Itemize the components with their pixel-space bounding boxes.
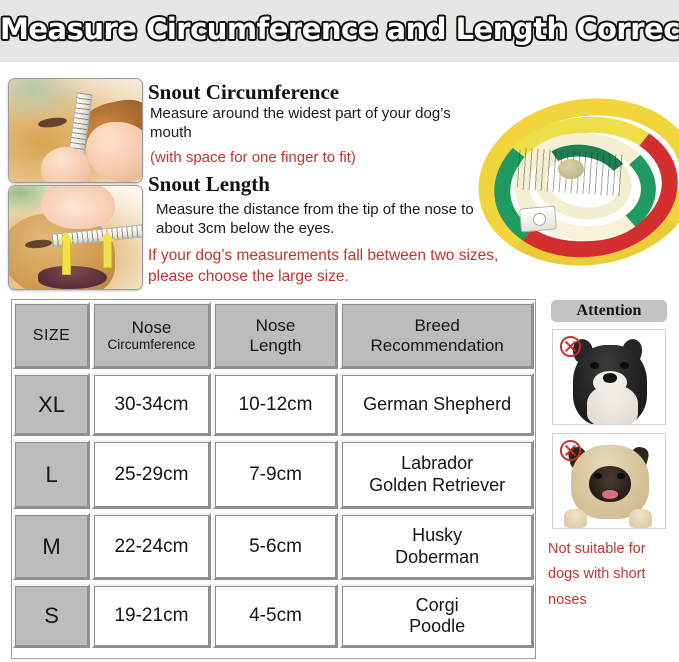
cell-breed-line2: Poodle	[409, 616, 465, 637]
cell-breed: Labrador Golden Retriever	[340, 440, 534, 509]
attention-title: Attention	[551, 300, 667, 322]
cell-size-value: M	[42, 534, 60, 560]
up-arrow-icon	[103, 238, 112, 269]
table-header-breed-recommendation: Breed Recommendation	[340, 302, 534, 369]
cell-value: 19-21cm	[114, 605, 188, 627]
cell-size: M	[13, 513, 90, 580]
photo-pug	[552, 433, 666, 529]
tape-measure-illustration	[472, 95, 672, 250]
note-finger-space: (with space for one finger to fit)	[150, 148, 490, 167]
up-arrow-icon	[62, 238, 71, 275]
dog-paw-right	[629, 509, 651, 528]
table-row: M 22-24cm 5-6cm Husky Doberman	[12, 511, 535, 582]
photo-french-bulldog	[552, 329, 666, 425]
table-header-line2: Circumference	[108, 337, 196, 352]
cell-nose-circumference: 30-34cm	[92, 373, 211, 436]
heading-snout-circumference: Snout Circumference	[148, 80, 339, 105]
photo-snout-circumference	[8, 78, 143, 183]
tape-hub	[558, 159, 584, 179]
table-header-line1: Nose	[132, 318, 172, 337]
cell-value: 30-34cm	[114, 394, 188, 416]
text-snout-circumference: Measure around the widest part of your d…	[150, 104, 480, 142]
dog-eye-right	[617, 473, 625, 479]
dog-eye-left	[590, 362, 599, 369]
cell-breed: Husky Doberman	[340, 513, 534, 580]
dog-paw-left	[564, 509, 586, 528]
cell-nose-length: 10-12cm	[213, 373, 339, 436]
cell-size: S	[13, 584, 90, 648]
table-header-line2: Recommendation	[371, 336, 504, 355]
table-header-line2: Length	[250, 336, 302, 355]
cell-size-value: XL	[38, 392, 65, 418]
cell-value: 5-6cm	[249, 536, 302, 558]
cell-nose-circumference: 22-24cm	[92, 513, 211, 580]
cell-value: 25-29cm	[114, 464, 188, 486]
cell-size: XL	[13, 373, 90, 436]
cell-nose-circumference: 25-29cm	[92, 440, 211, 509]
cell-breed: Corgi Poodle	[340, 584, 534, 648]
tape-end-tab	[519, 205, 557, 232]
cell-value: 10-12cm	[239, 394, 313, 416]
photo-snout-length	[8, 185, 143, 290]
title-banner: Measure Circumference and Length Correct…	[0, 0, 679, 62]
table-row: L 25-29cm 7-9cm Labrador Golden Retrieve…	[12, 438, 535, 511]
cell-nose-length: 5-6cm	[213, 513, 339, 580]
x-circle-icon	[559, 439, 582, 462]
attention-warning-text: Not suitable for dogs with short noses	[546, 537, 672, 613]
cell-nose-circumference: 19-21cm	[92, 584, 211, 648]
cell-nose-length: 4-5cm	[213, 584, 339, 648]
table-row: S 19-21cm 4-5cm Corgi Poodle	[12, 582, 535, 650]
size-chart-table: SIZE Nose Circumference Nose Length Bree…	[11, 299, 536, 659]
dog-eye-right	[620, 362, 629, 369]
cell-size-value: S	[44, 603, 59, 629]
table-header-nose-length: Nose Length	[213, 302, 339, 369]
cell-nose-length: 7-9cm	[213, 440, 339, 509]
dog-nose	[603, 373, 616, 382]
cell-value: 22-24cm	[114, 536, 188, 558]
table-header-row: SIZE Nose Circumference Nose Length Bree…	[12, 300, 535, 371]
attention-panel: Attention Not suitable for dogs with sho…	[546, 300, 672, 660]
cell-value: 4-5cm	[249, 605, 302, 627]
table-header-size-label: SIZE	[33, 327, 71, 345]
cell-breed-line2: Doberman	[395, 547, 479, 568]
table-header-size: SIZE	[13, 302, 90, 369]
cell-breed-line1: German Shepherd	[363, 394, 511, 415]
cell-breed-line1: Husky	[412, 525, 462, 546]
hand	[41, 185, 115, 229]
cell-breed-line1: Labrador	[401, 453, 473, 474]
cell-size: L	[13, 440, 90, 509]
cell-breed: German Shepherd	[340, 373, 534, 436]
text-snout-length: Measure the distance from the tip of the…	[156, 200, 496, 238]
table-header-nose-circumference: Nose Circumference	[92, 302, 211, 369]
cell-size-value: L	[45, 462, 57, 488]
cell-breed-line2: Golden Retriever	[369, 475, 505, 496]
table-header-line1: Breed	[414, 316, 459, 335]
dog-tongue	[602, 490, 618, 498]
table-header-line1: Nose	[256, 316, 296, 335]
heading-snout-length: Snout Length	[148, 172, 270, 197]
page-title: Measure Circumference and Length Correct…	[0, 12, 679, 46]
table-row: XL 30-34cm 10-12cm German Shepherd	[12, 371, 535, 438]
note-between-sizes: If your dog’s measurements fall between …	[148, 246, 548, 288]
cell-breed-line1: Corgi	[416, 595, 459, 616]
cell-value: 7-9cm	[249, 464, 302, 486]
x-circle-icon	[559, 335, 582, 358]
